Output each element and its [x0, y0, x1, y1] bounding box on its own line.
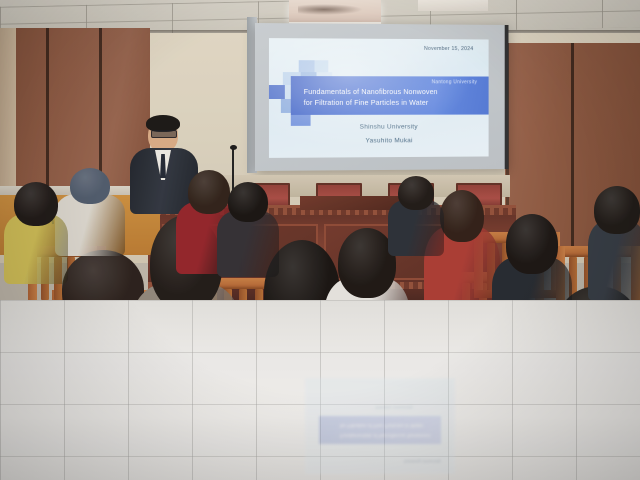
microphone-head-icon [230, 145, 237, 150]
ceiling-light-fixture [289, 0, 381, 24]
projection-screen: November 15, 2024 Nantong University Fun… [255, 23, 508, 171]
eyeglasses-icon [151, 130, 177, 138]
ceiling-light-fixture-secondary [418, 0, 488, 11]
attendee-head [506, 214, 558, 274]
slide-date: November 15, 2024 [424, 46, 473, 52]
reflection-affiliation: Shinshu University [375, 405, 413, 410]
side-desk-upper [300, 196, 400, 210]
floor-slide-reflection: Nantong University Fundamentals of Nanof… [305, 378, 455, 474]
slide-affiliation: Shinshu University [360, 124, 418, 131]
slide-organizer: Nantong University [432, 79, 478, 85]
lecture-hall-photo: November 15, 2024 Nantong University Fun… [0, 0, 640, 480]
slide-title-line-2: for Filtration of Fine Particles in Wate… [304, 98, 429, 107]
panel-seam-right [571, 43, 574, 253]
reflection-title-2: for Filtration of Fine Particles in Wate… [340, 422, 423, 428]
attendee-head [594, 186, 640, 234]
slide-title-line-1: Fundamentals of Nanofibrous Nonwoven [304, 87, 438, 96]
slide-title-band: Nantong University Fundamentals of Nanof… [291, 76, 489, 115]
reflection-title-1: Fundamentals of Nanofibrous Nonwoven [340, 432, 431, 438]
presentation-slide: November 15, 2024 Nantong University Fun… [269, 38, 489, 158]
attendee-head [70, 168, 110, 204]
attendee-head [14, 182, 58, 226]
attendee-head [398, 176, 434, 210]
microphone [232, 148, 234, 192]
reflection-organizer: Nantong University [404, 459, 441, 464]
attendee-head [440, 190, 484, 242]
slide-presenter-name: Yasuhito Mukai [365, 137, 412, 144]
attendee-head [188, 170, 230, 214]
mosaic-tile [269, 85, 285, 99]
attendee-head [228, 182, 268, 222]
reflection-band: Fundamentals of Nanofibrous Nonwoven for… [319, 416, 441, 444]
mosaic-tile [299, 60, 315, 72]
mosaic-tile [315, 60, 329, 72]
